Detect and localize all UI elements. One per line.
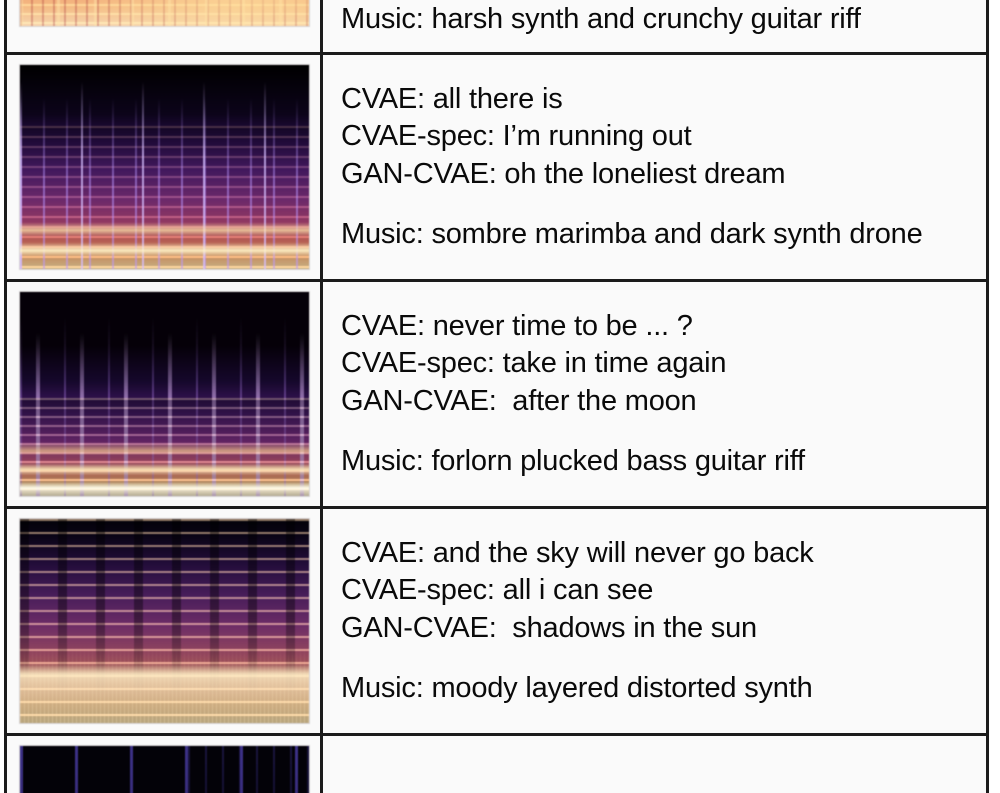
line-cvae: CVAE: never time to be ... ? [341, 308, 978, 346]
text-cell: CVAE: and the sky will never go back CVA… [323, 509, 986, 733]
line-gan-cvae: GAN-CVAE: after the moon [341, 383, 978, 421]
table-row: CVAE: all the love is free [7, 736, 986, 793]
line-spacer [341, 647, 978, 670]
spectrogram-forlorn-plucked-bass-guitar [19, 291, 310, 497]
line-gan-cvae: GAN-CVAE: oh the loneliest dream [341, 156, 978, 194]
table-row: CVAE: CVAE-spec: GAN-CVAE: Music: harsh … [7, 0, 986, 55]
text-cell: CVAE: all there is CVAE-spec: I’m runnin… [323, 55, 986, 279]
spectrogram-cell [7, 509, 323, 733]
spectrogram-cell [7, 282, 323, 506]
line-music: Music: harsh synth and crunchy guitar ri… [341, 1, 978, 39]
table-row: CVAE: all there is CVAE-spec: I’m runnin… [7, 55, 986, 282]
line-cvae-spec: CVAE-spec: all i can see [341, 572, 978, 610]
spectrogram-accent-layer [188, 746, 309, 793]
spectrogram-highlight-layer [20, 0, 309, 26]
line-gan-cvae: GAN-CVAE: shadows in the sun [341, 610, 978, 648]
spectrogram-highlight-layer [20, 65, 309, 269]
spectrogram-cell [7, 0, 323, 52]
line-music: Music: forlorn plucked bass guitar riff [341, 443, 978, 481]
spectrogram-highlight-layer [20, 519, 309, 723]
line-cvae-spec: CVAE-spec: I’m running out [341, 118, 978, 156]
figure-page: CVAE: CVAE-spec: GAN-CVAE: Music: harsh … [0, 0, 1000, 793]
spectrogram-cell [7, 736, 323, 793]
spectrogram-highlight-layer [20, 292, 309, 496]
line-spacer [341, 193, 978, 216]
spectrogram-moody-layered-distorted-synth [19, 518, 310, 724]
table-row: CVAE: and the sky will never go back CVA… [7, 509, 986, 736]
text-cell: CVAE: CVAE-spec: GAN-CVAE: Music: harsh … [323, 0, 986, 52]
line-music: Music: moody layered distorted synth [341, 670, 978, 708]
spectrogram-lyrics-table: CVAE: CVAE-spec: GAN-CVAE: Music: harsh … [4, 0, 989, 793]
table-row: CVAE: never time to be ... ? CVAE-spec: … [7, 282, 986, 509]
spectrogram-cell [7, 55, 323, 279]
spectrogram-quiet-dark-clip [19, 745, 310, 793]
line-cvae-spec: CVAE-spec: take in time again [341, 345, 978, 383]
text-cell: CVAE: all the love is free [323, 736, 986, 793]
text-cell: CVAE: never time to be ... ? CVAE-spec: … [323, 282, 986, 506]
spectrogram-sombre-marimba-dark-synth-drone [19, 64, 310, 270]
line-cvae: CVAE: and the sky will never go back [341, 535, 978, 573]
line-cvae: CVAE: all there is [341, 81, 978, 119]
spectrogram-harsh-synth-crunchy-guitar [19, 0, 310, 27]
line-music: Music: sombre marimba and dark synth dro… [341, 216, 978, 254]
line-spacer [341, 420, 978, 443]
